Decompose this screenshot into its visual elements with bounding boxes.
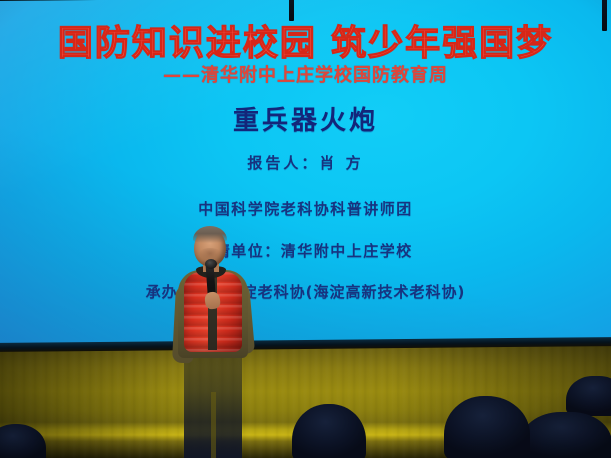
speaker-figure xyxy=(0,0,611,458)
microphone-head xyxy=(205,259,217,269)
speaker-leg-gap xyxy=(211,392,216,458)
lecture-photo-scene: 国防知识进校园 筑少年强国梦 ——清华附中上庄学校国防教育周 重兵器火炮 报告人… xyxy=(0,0,611,458)
audience-head xyxy=(520,412,611,458)
speaker-hair xyxy=(193,226,227,243)
